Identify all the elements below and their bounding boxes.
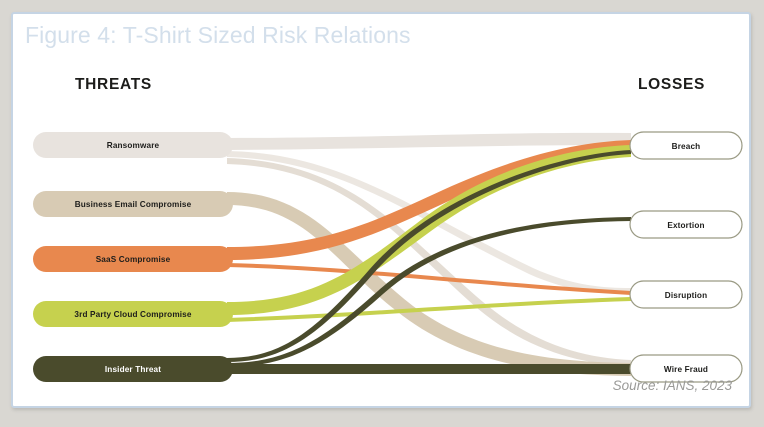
threat-node-cloud3p-label: 3rd Party Cloud Compromise bbox=[74, 310, 191, 319]
threat-node-bec-label: Business Email Compromise bbox=[75, 200, 192, 209]
loss-node-breach-label: Breach bbox=[672, 142, 701, 151]
loss-node-wirefraud-label: Wire Fraud bbox=[664, 365, 708, 374]
loss-node-extortion[interactable]: Extortion bbox=[630, 211, 742, 238]
source-attribution: Source: IANS, 2023 bbox=[613, 378, 732, 393]
loss-nodes-group: Breach Extortion Disruption Wire Fraud bbox=[630, 132, 742, 382]
threat-node-bec[interactable]: Business Email Compromise bbox=[33, 191, 233, 217]
figure-card: Figure 4: T-Shirt Sized Risk Relations T… bbox=[11, 12, 751, 408]
loss-node-breach[interactable]: Breach bbox=[630, 132, 742, 159]
link-insider-wirefraud bbox=[227, 364, 631, 374]
threat-node-cloud3p[interactable]: 3rd Party Cloud Compromise bbox=[33, 301, 233, 327]
threat-nodes-group: Ransomware Business Email Compromise Saa… bbox=[33, 132, 233, 382]
threat-node-saas-label: SaaS Compromise bbox=[96, 255, 171, 264]
sankey-diagram: Ransomware Business Email Compromise Saa… bbox=[13, 14, 751, 408]
link-saas-disruption bbox=[227, 263, 631, 295]
sankey-links-layer bbox=[227, 133, 631, 376]
threat-node-insider-label: Insider Threat bbox=[105, 365, 161, 374]
loss-node-disruption[interactable]: Disruption bbox=[630, 281, 742, 308]
loss-node-extortion-label: Extortion bbox=[667, 221, 704, 230]
threat-node-ransomware-label: Ransomware bbox=[107, 141, 160, 150]
threat-node-ransomware[interactable]: Ransomware bbox=[33, 132, 233, 158]
loss-node-disruption-label: Disruption bbox=[665, 291, 707, 300]
threat-node-insider[interactable]: Insider Threat bbox=[33, 356, 233, 382]
threat-node-saas[interactable]: SaaS Compromise bbox=[33, 246, 233, 272]
